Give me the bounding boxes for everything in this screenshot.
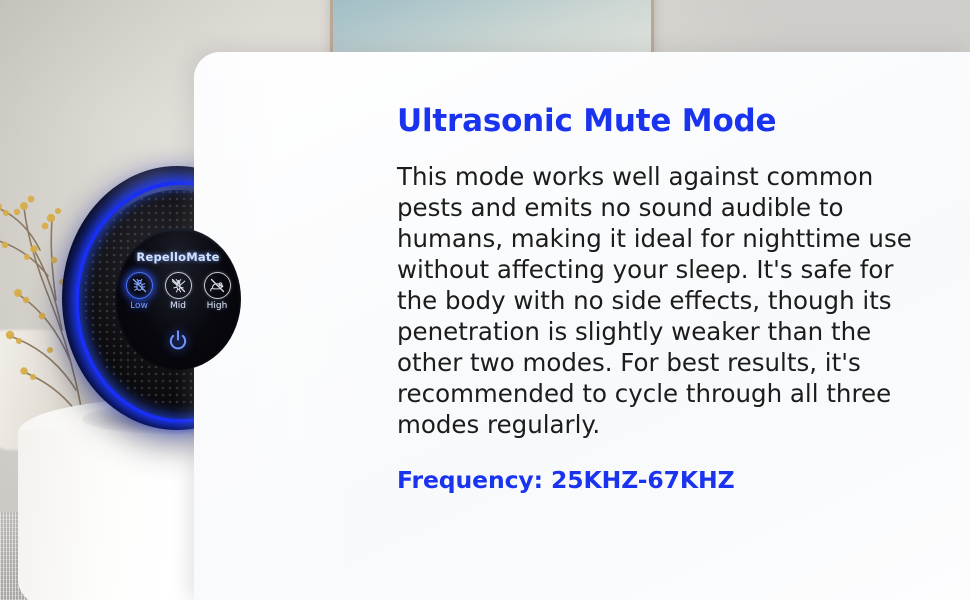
page-title: Ultrasonic Mute Mode [397, 104, 942, 139]
no-rodent-icon [204, 272, 231, 299]
mode-label-mid: Mid [160, 301, 196, 311]
mode-button-low[interactable]: Low [121, 272, 157, 311]
product-infographic: RepelloMate Low [0, 0, 970, 600]
power-icon [165, 328, 191, 354]
device-faceplate: RepelloMate Low [115, 228, 241, 370]
mode-label-low: Low [121, 301, 157, 311]
device-brand-label: RepelloMate [115, 250, 241, 264]
no-mosquito-icon [165, 272, 192, 299]
mode-label-high: High [199, 301, 235, 311]
mode-selector[interactable]: Low Mid [121, 272, 235, 311]
mode-button-mid[interactable]: Mid [160, 272, 196, 311]
power-button[interactable] [115, 328, 241, 354]
description-text: This mode works well against common pest… [397, 161, 917, 440]
no-bug-icon [126, 272, 153, 299]
frequency-spec: Frequency: 25KHZ-67KHZ [397, 466, 942, 494]
framed-artwork [330, 0, 654, 58]
mode-button-high[interactable]: High [199, 272, 235, 311]
panel-content: Ultrasonic Mute Mode This mode works wel… [397, 104, 942, 494]
